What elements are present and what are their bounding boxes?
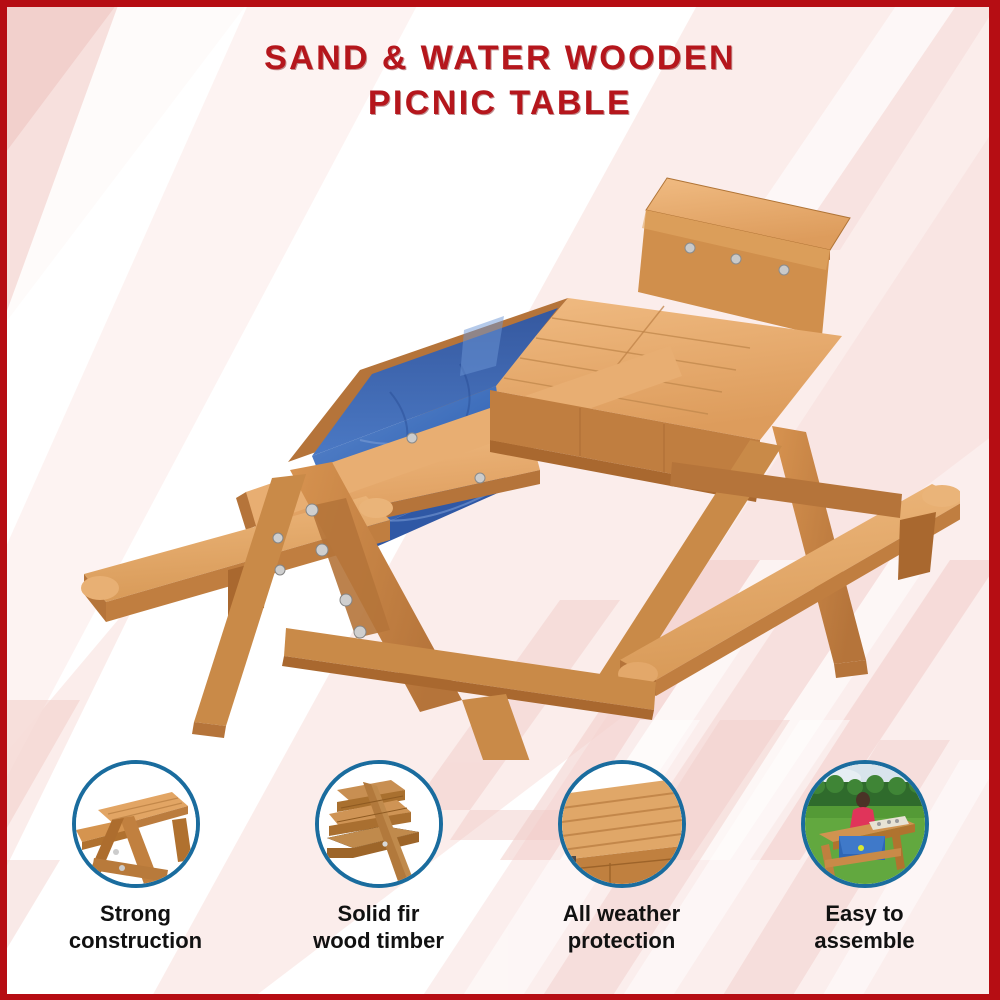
solid-fir-wood-timber-icon	[315, 760, 443, 888]
border-right	[989, 0, 1000, 1000]
feature-list: Strong construction	[14, 760, 986, 988]
strong-construction-icon	[72, 760, 200, 888]
border-bottom	[0, 994, 1000, 1000]
feature-item-strong-construction: Strong construction	[14, 760, 257, 988]
border-left	[0, 0, 7, 1000]
feature-item-solid-fir-wood-timber: Solid fir wood timber	[257, 760, 500, 988]
easy-to-assemble-icon	[801, 760, 929, 888]
product-listing-image: SAND & WATER WOODEN PICNIC TABLE	[0, 0, 1000, 1000]
feature-label: Solid fir wood timber	[313, 900, 444, 954]
feature-label: Strong construction	[69, 900, 202, 954]
all-weather-protection-icon	[558, 760, 686, 888]
feature-label: Easy to assemble	[814, 900, 914, 954]
feature-item-all-weather-protection: All weather protection	[500, 760, 743, 988]
product-photo	[60, 140, 960, 760]
feature-label: All weather protection	[563, 900, 680, 954]
border-top	[0, 0, 1000, 7]
feature-item-easy-to-assemble: Easy to assemble	[743, 760, 986, 988]
